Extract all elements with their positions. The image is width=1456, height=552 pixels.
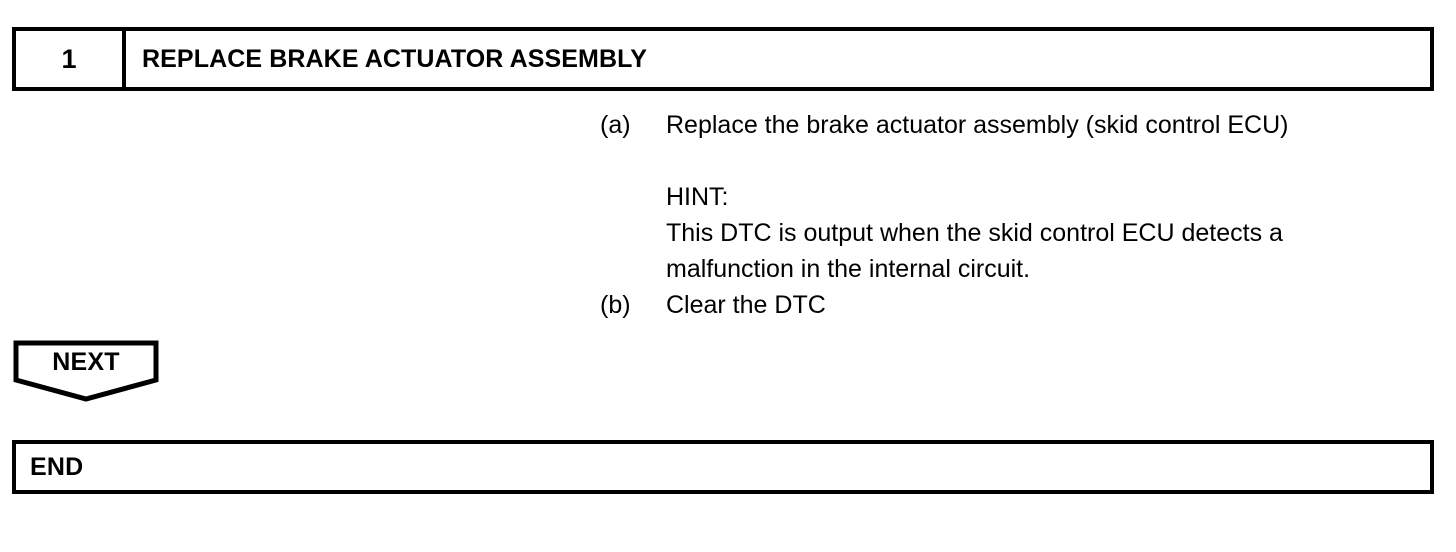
procedure-item-b-label: (b) bbox=[600, 287, 666, 323]
next-flow-banner: NEXT bbox=[13, 340, 159, 402]
hint-line-1: This DTC is output when the skid control… bbox=[666, 215, 1450, 251]
step-number-cell: 1 bbox=[16, 31, 126, 87]
hint-block: HINT: This DTC is output when the skid c… bbox=[666, 179, 1450, 287]
procedure-item-a-line-1: Replace the brake actuator assembly (ski… bbox=[666, 107, 1450, 143]
hint-line-2: malfunction in the internal circuit. bbox=[666, 251, 1450, 287]
procedure-spacer bbox=[600, 143, 1450, 179]
procedure-item-b: (b) Clear the DTC bbox=[600, 287, 1450, 323]
procedure-item-a-label: (a) bbox=[600, 107, 666, 143]
procedure-item-a: (a) Replace the brake actuator assembly … bbox=[600, 107, 1450, 143]
step-number: 1 bbox=[61, 46, 76, 73]
procedure-block: (a) Replace the brake actuator assembly … bbox=[600, 107, 1450, 323]
end-label: END bbox=[30, 455, 83, 480]
step-title: REPLACE BRAKE ACTUATOR ASSEMBLY bbox=[142, 47, 647, 72]
procedure-item-b-line-1: Clear the DTC bbox=[666, 287, 1450, 323]
next-arrow-icon bbox=[13, 340, 159, 402]
step-title-cell: REPLACE BRAKE ACTUATOR ASSEMBLY bbox=[126, 31, 1430, 87]
hint-heading: HINT: bbox=[666, 179, 1450, 215]
end-box: END bbox=[12, 440, 1434, 494]
diagnostic-step-page: 1 REPLACE BRAKE ACTUATOR ASSEMBLY (a) Re… bbox=[0, 0, 1456, 552]
procedure-item-a-text: Replace the brake actuator assembly (ski… bbox=[666, 107, 1450, 143]
step-header-box: 1 REPLACE BRAKE ACTUATOR ASSEMBLY bbox=[12, 27, 1434, 91]
procedure-item-b-text: Clear the DTC bbox=[666, 287, 1450, 323]
